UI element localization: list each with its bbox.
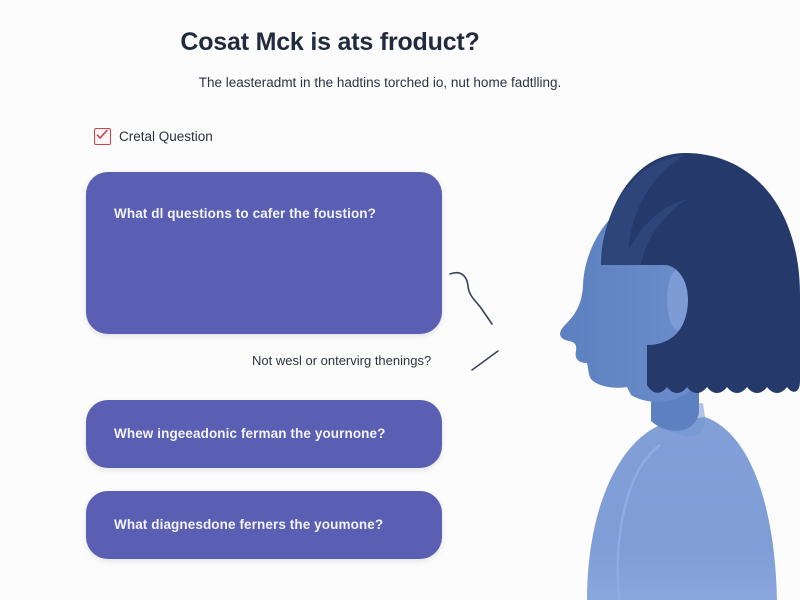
page-title: Cosat Mck is ats froduct? <box>0 28 660 57</box>
page-subtitle: The leasteradmt in the hadtins torched i… <box>0 75 760 90</box>
middle-caption: Not wesl or ontervirg thenings? <box>252 353 431 368</box>
question-card[interactable]: What diagnesdone ferners the youmone? <box>86 491 442 559</box>
question-card[interactable]: What dl questions to cafer the foustion? <box>86 172 442 334</box>
checkbox-checked-icon[interactable] <box>94 128 111 145</box>
woman-profile-illustration <box>455 145 800 600</box>
question-card[interactable]: Whew ingeeadonic ferman the yournone? <box>86 400 442 468</box>
cretal-question-checkbox-row[interactable]: Cretal Question <box>94 128 213 145</box>
checkbox-label: Cretal Question <box>119 129 213 144</box>
screenshot-root: Cosat Mck is ats froduct? The leasteradm… <box>0 0 800 600</box>
question-card-text: Whew ingeeadonic ferman the yournone? <box>114 426 385 441</box>
shirt-shape <box>587 417 777 600</box>
question-card-text: What diagnesdone ferners the youmone? <box>114 517 383 532</box>
question-card-text: What dl questions to cafer the foustion? <box>114 206 376 221</box>
